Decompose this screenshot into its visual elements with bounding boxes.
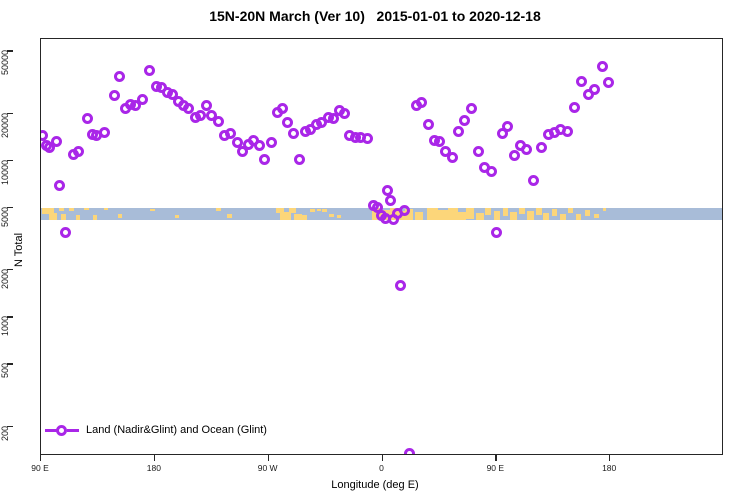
x-tick-mark	[268, 455, 269, 461]
scatter-point	[466, 103, 477, 114]
band-land-patch	[329, 214, 334, 217]
band-land-patch	[476, 213, 484, 220]
band-land-patch	[93, 215, 97, 220]
y-tick-label: 10000	[0, 160, 10, 185]
scatter-point	[382, 185, 393, 196]
x-tick-mark	[495, 455, 496, 461]
band-land-patch	[294, 214, 302, 219]
band-land-patch	[415, 212, 423, 219]
scatter-point	[528, 175, 539, 186]
band-land-patch	[302, 215, 307, 220]
plot-area	[40, 38, 723, 455]
band-land-patch	[54, 213, 58, 220]
scatter-point	[195, 110, 206, 121]
scatter-point	[385, 195, 396, 206]
scatter-point	[509, 150, 520, 161]
y-tick-label: 1000	[0, 316, 10, 336]
x-tick-label: 90 E	[31, 463, 49, 473]
scatter-point	[137, 94, 148, 105]
scatter-point	[60, 227, 71, 238]
band-land-patch	[536, 208, 542, 215]
band-land-patch	[84, 208, 89, 210]
band-land-patch	[603, 208, 607, 211]
x-tick-label: 90 W	[258, 463, 278, 473]
scatter-point	[569, 102, 580, 113]
scatter-point	[576, 76, 587, 87]
band-land-patch	[427, 208, 438, 220]
scatter-point	[453, 126, 464, 137]
band-land-patch	[69, 208, 74, 211]
band-land-patch	[118, 214, 122, 218]
scatter-point	[54, 180, 65, 191]
band-land-patch	[585, 210, 590, 215]
band-land-patch	[216, 208, 221, 211]
band-land-patch	[594, 214, 599, 218]
y-tick-label: 200	[0, 426, 10, 441]
scatter-point	[294, 154, 305, 165]
band-land-patch	[76, 215, 80, 220]
band-land-patch	[503, 208, 508, 216]
band-land-patch	[289, 208, 297, 213]
scatter-point	[254, 140, 265, 151]
legend: Land (Nadir&Glint) and Ocean (Glint)	[45, 424, 267, 436]
scatter-point	[99, 127, 110, 138]
band-land-patch	[466, 208, 474, 219]
band-land-patch	[61, 214, 66, 219]
x-tick-mark	[609, 455, 610, 461]
band-land-patch	[59, 208, 64, 212]
band-land-patch	[337, 215, 341, 219]
chart-figure: 15N-20N March (Ver 10) 2015-01-01 to 202…	[0, 0, 750, 500]
scatter-point	[51, 136, 62, 147]
legend-item-label: Land (Nadir&Glint) and Ocean (Glint)	[86, 424, 267, 436]
scatter-point	[447, 152, 458, 163]
y-axis: 200500100020005000100002000050000	[0, 0, 40, 500]
x-tick-mark	[40, 455, 41, 461]
band-land-patch	[310, 209, 315, 212]
band-land-patch	[576, 214, 581, 220]
band-land-patch	[150, 209, 155, 211]
scatter-point	[399, 205, 410, 216]
band-land-patch	[322, 209, 327, 212]
band-land-patch	[458, 212, 466, 220]
legend-marker-icon	[45, 424, 79, 436]
x-tick-label: 180	[147, 463, 161, 473]
band-land-patch	[280, 212, 291, 220]
band-land-patch	[527, 211, 535, 219]
band-land-patch	[317, 209, 321, 212]
x-tick-label: 90 E	[487, 463, 505, 473]
band-land-patch	[568, 208, 573, 213]
scatter-point	[213, 116, 224, 127]
x-tick-label: 0	[379, 463, 384, 473]
band-land-patch	[438, 210, 448, 220]
scatter-point	[473, 146, 484, 157]
scatter-point	[562, 126, 573, 137]
y-tick-label: 500	[0, 363, 10, 378]
band-land-patch	[543, 213, 549, 220]
x-tick-label: 180	[602, 463, 616, 473]
x-tick-mark	[382, 455, 383, 461]
scatter-point	[491, 227, 502, 238]
chart-title: 15N-20N March (Ver 10) 2015-01-01 to 202…	[0, 8, 750, 24]
band-land-patch	[227, 214, 232, 218]
scatter-point	[114, 71, 125, 82]
y-tick-label: 2000	[0, 269, 10, 289]
scatter-point	[395, 280, 406, 291]
band-land-patch	[519, 208, 525, 214]
band-land-patch	[552, 209, 557, 216]
y-tick-label: 5000	[0, 207, 10, 227]
band-land-patch	[494, 211, 500, 220]
band-land-patch	[485, 208, 491, 215]
scatter-point	[404, 448, 415, 455]
band-land-patch	[510, 212, 516, 220]
y-tick-label: 20000	[0, 113, 10, 138]
band-land-patch	[448, 208, 458, 220]
scatter-point	[144, 65, 155, 76]
band-land-patch	[104, 208, 108, 210]
band-land-patch	[175, 215, 179, 219]
scatter-point	[423, 119, 434, 130]
band-land-patch	[560, 214, 566, 220]
x-tick-mark	[154, 455, 155, 461]
y-tick-label: 50000	[0, 50, 10, 75]
x-axis-title: Longitude (deg E)	[0, 479, 750, 491]
